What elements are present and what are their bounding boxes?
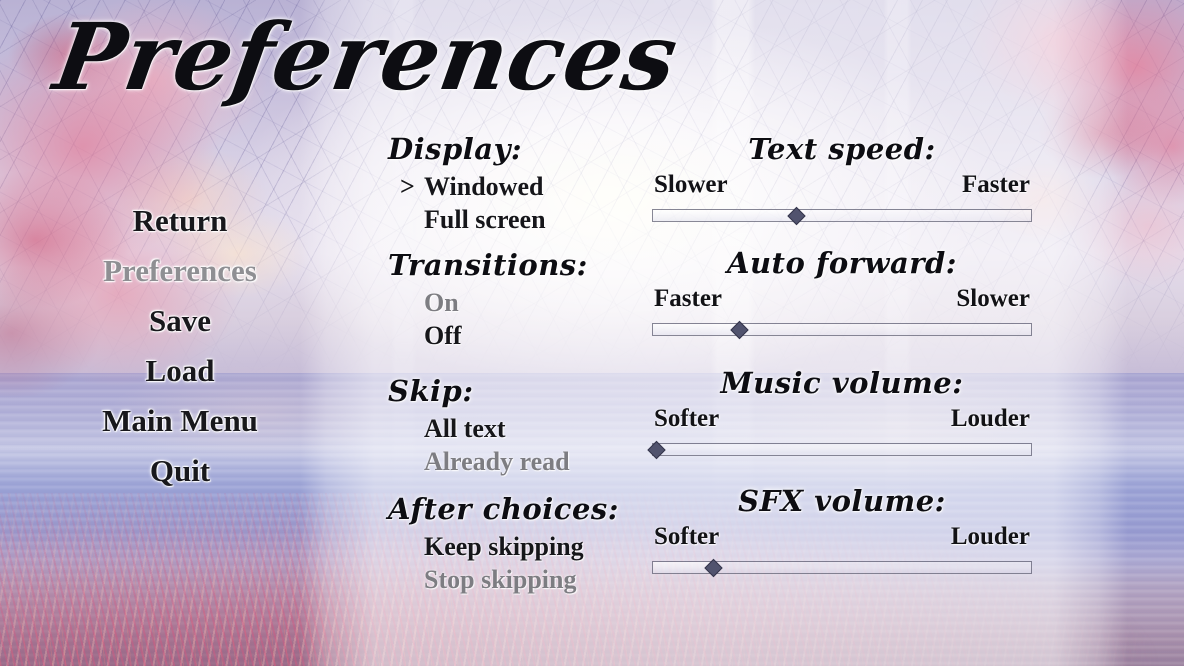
group-title-sfx-volume: SFX volume: [652, 480, 1032, 522]
nav-item-main-menu[interactable]: Main Menu [40, 396, 320, 446]
slider-endpoint-labels: Faster Slower [652, 284, 1032, 314]
group-title-after-choices: After choices: [388, 488, 638, 530]
option-transitions-off[interactable]: Off [388, 319, 638, 352]
nav-item-load[interactable]: Load [40, 346, 320, 396]
option-after-keep-skipping[interactable]: Keep skipping [388, 530, 638, 563]
group-title-auto-forward: Auto forward: [652, 242, 1032, 284]
option-label: Off [424, 321, 462, 350]
option-transitions-on[interactable]: On [388, 286, 638, 319]
slider-fill [653, 210, 797, 221]
group-title-text-speed: Text speed: [652, 128, 1032, 170]
slider-text-speed[interactable] [652, 209, 1032, 222]
group-title-skip: Skip: [388, 370, 638, 412]
slider-auto-forward[interactable] [652, 323, 1032, 336]
option-after-stop-skipping[interactable]: Stop skipping [388, 563, 638, 596]
slider-group-text-speed: Text speed: Slower Faster [652, 128, 1032, 222]
option-label: All text [424, 414, 506, 443]
option-label: Stop skipping [424, 565, 576, 594]
selection-caret-icon: > [400, 170, 415, 203]
slider-group-music-volume: Music volume: Softer Louder [652, 362, 1032, 456]
navigation-menu: Return Preferences Save Load Main Menu Q… [40, 196, 320, 496]
option-label: On [424, 288, 459, 317]
page-title: Preferences [48, 8, 684, 107]
slider-max-label: Faster [962, 170, 1030, 200]
option-group-skip: Skip: All text Already read [388, 370, 638, 478]
slider-min-label: Softer [654, 522, 719, 552]
group-title-display: Display: [388, 128, 638, 170]
slider-max-label: Louder [951, 522, 1030, 552]
slider-group-sfx-volume: SFX volume: Softer Louder [652, 480, 1032, 574]
option-skip-already-read[interactable]: Already read [388, 445, 638, 478]
slider-group-auto-forward: Auto forward: Faster Slower [652, 242, 1032, 336]
nav-item-quit[interactable]: Quit [40, 446, 320, 496]
slider-endpoint-labels: Softer Louder [652, 522, 1032, 552]
preferences-screen: Preferences Return Preferences Save Load… [0, 0, 1184, 666]
option-skip-all-text[interactable]: All text [388, 412, 638, 445]
slider-music-volume[interactable] [652, 443, 1032, 456]
option-group-after-choices: After choices: Keep skipping Stop skippi… [388, 488, 638, 596]
nav-item-return[interactable]: Return [40, 196, 320, 246]
group-title-transitions: Transitions: [388, 244, 638, 286]
option-label: Full screen [424, 205, 546, 234]
slider-min-label: Softer [654, 404, 719, 434]
options-column: Display: > Windowed Full screen Transiti… [388, 128, 638, 598]
option-label: Keep skipping [424, 532, 584, 561]
slider-min-label: Faster [654, 284, 722, 314]
option-label: Windowed [424, 172, 543, 201]
option-label: Already read [424, 447, 570, 476]
option-display-windowed[interactable]: > Windowed [388, 170, 638, 203]
slider-endpoint-labels: Slower Faster [652, 170, 1032, 200]
slider-sfx-volume[interactable] [652, 561, 1032, 574]
slider-min-label: Slower [654, 170, 728, 200]
option-display-fullscreen[interactable]: Full screen [388, 203, 638, 236]
nav-item-save[interactable]: Save [40, 296, 320, 346]
slider-thumb[interactable] [648, 440, 666, 458]
option-group-transitions: Transitions: On Off [388, 244, 638, 352]
slider-max-label: Slower [956, 284, 1030, 314]
option-group-display: Display: > Windowed Full screen [388, 128, 638, 236]
slider-fill [653, 324, 740, 335]
sliders-column: Text speed: Slower Faster Auto forward: … [652, 128, 1032, 578]
group-title-music-volume: Music volume: [652, 362, 1032, 404]
slider-max-label: Louder [951, 404, 1030, 434]
slider-endpoint-labels: Softer Louder [652, 404, 1032, 434]
nav-item-preferences[interactable]: Preferences [40, 246, 320, 296]
